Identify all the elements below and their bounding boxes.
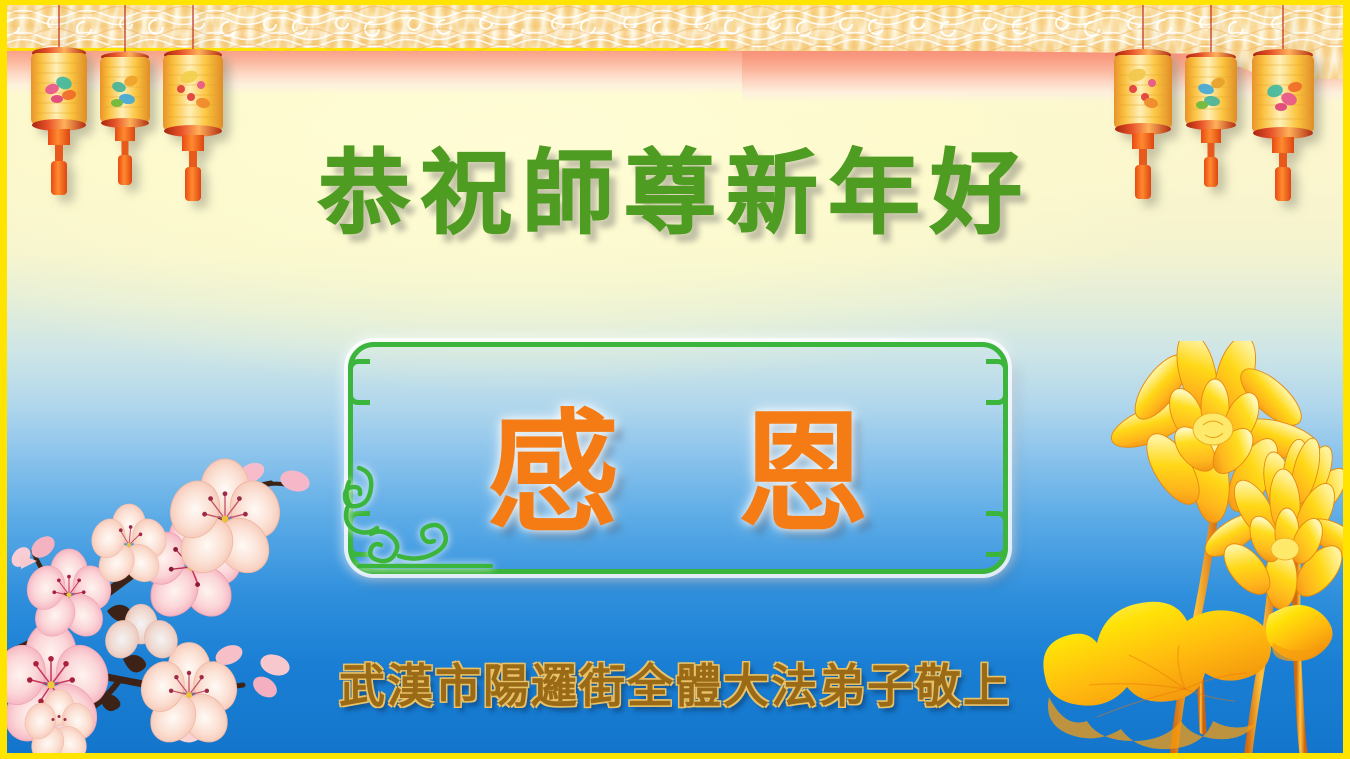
greeting-card: 恭祝師尊新年好 感恩 [0,0,1350,759]
card-inner: 恭祝師尊新年好 感恩 [7,5,1343,753]
headline-text: 恭祝師尊新年好 [7,148,1343,240]
center-text: 感恩 [348,377,1008,547]
signature-text: 武漢市陽邏街全體大法弟子敬上 [7,650,1343,716]
